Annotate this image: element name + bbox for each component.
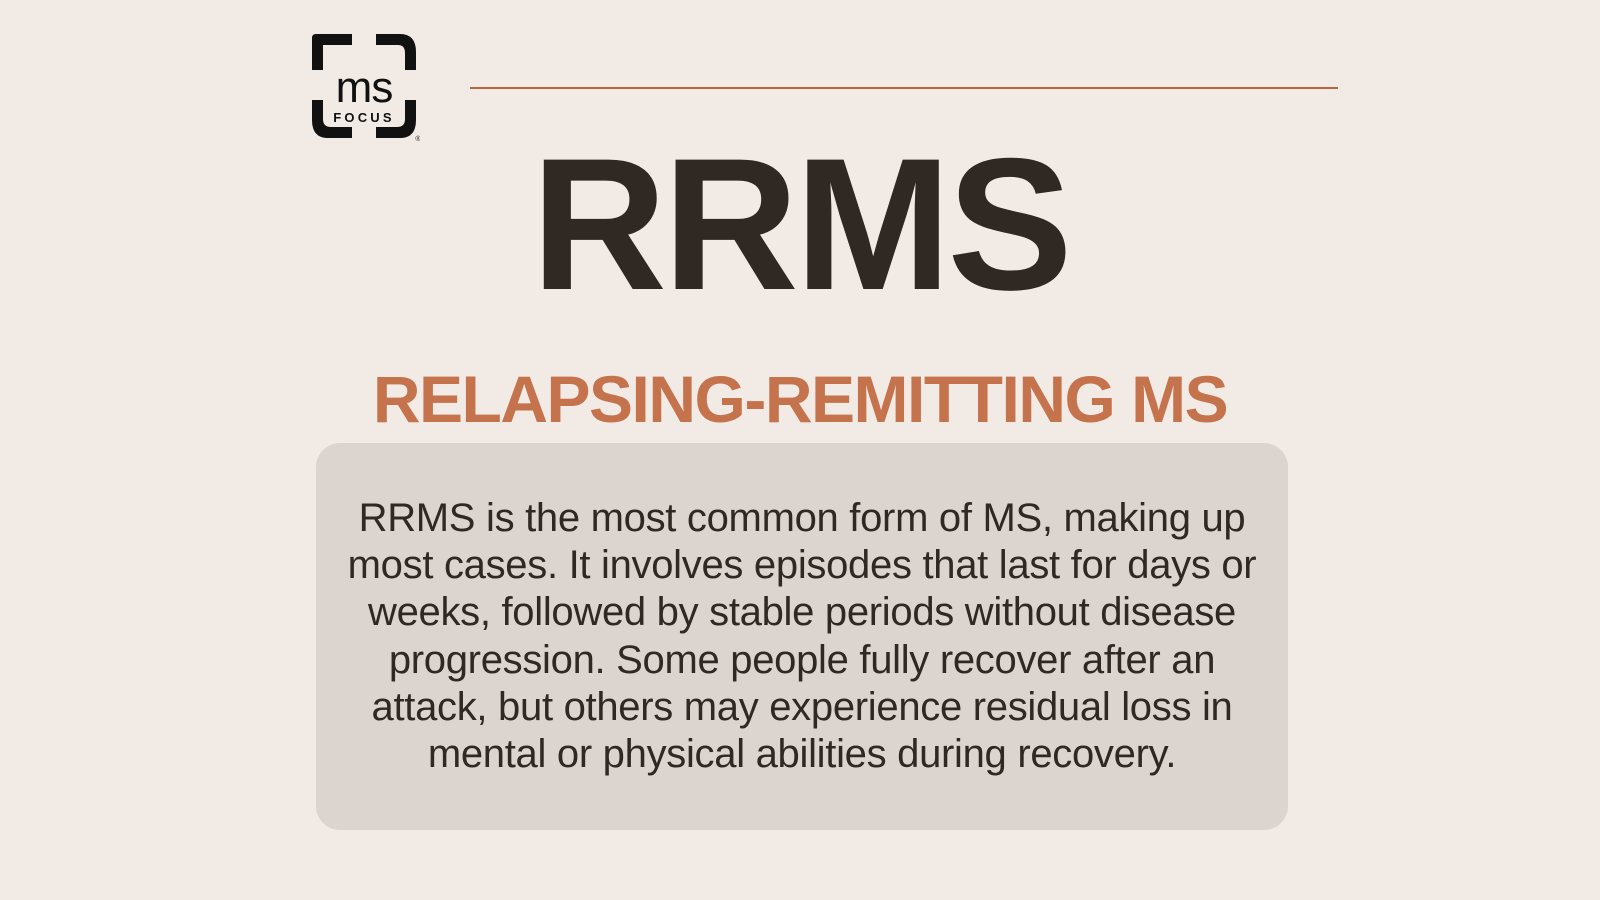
title-block: RRMS RELAPSING-REMITTING MS xyxy=(0,130,1600,432)
slide-root: ms FOCUS ® RRMS RELAPSING-REMITTING MS R… xyxy=(0,0,1600,900)
description-text: RRMS is the most common form of MS, maki… xyxy=(316,495,1288,778)
description-card: RRMS is the most common form of MS, maki… xyxy=(316,443,1288,830)
page-title: RRMS xyxy=(0,130,1600,318)
page-subtitle: RELAPSING-REMITTING MS xyxy=(0,366,1600,432)
svg-text:ms: ms xyxy=(336,63,393,112)
ms-focus-logo: ms FOCUS ® xyxy=(308,30,420,142)
svg-text:FOCUS: FOCUS xyxy=(333,110,395,125)
header-divider-rule xyxy=(470,87,1338,89)
